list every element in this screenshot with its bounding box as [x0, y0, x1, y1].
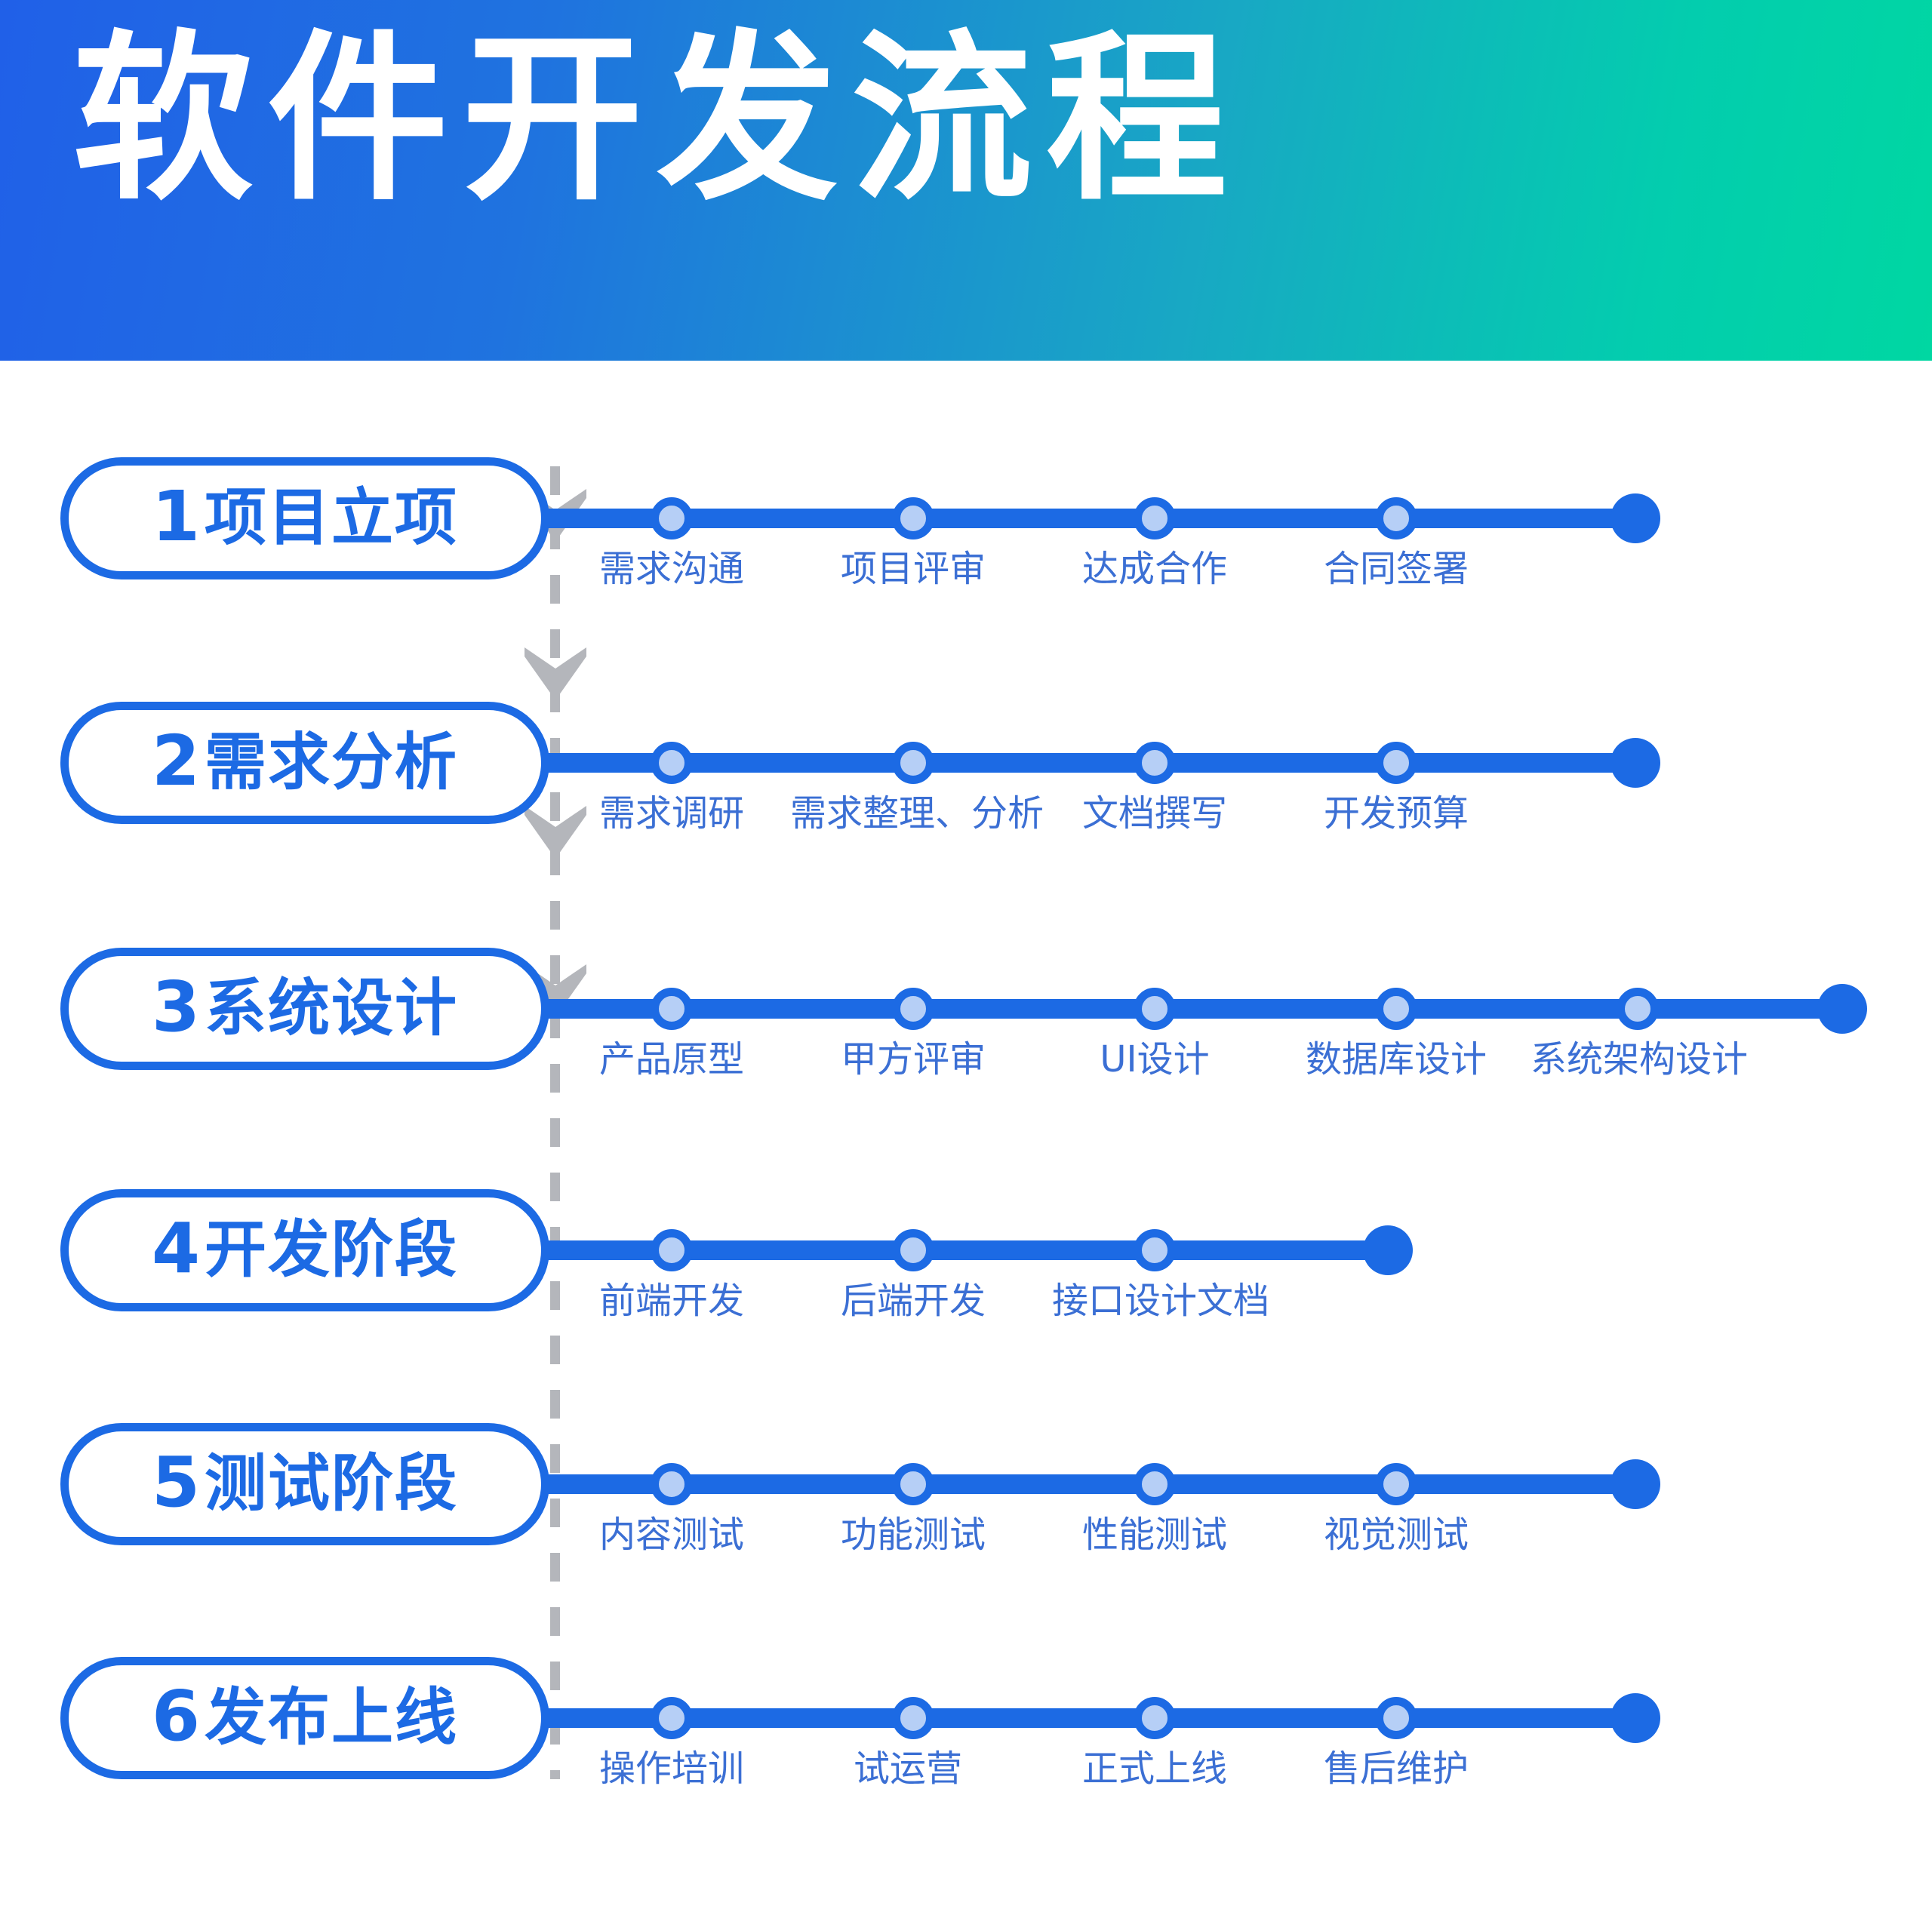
milestone-label-5-2: 功能测试 — [841, 1517, 986, 1553]
milestone-dot-1-3[interactable] — [1134, 497, 1176, 539]
step-title-2: 需求分析 — [205, 732, 458, 794]
milestone-label-3-5: 系统架构设计 — [1531, 1041, 1748, 1077]
timeline-end-dot-1 — [1611, 493, 1660, 543]
milestone-dot-5-2[interactable] — [892, 1463, 934, 1505]
milestone-dot-4-3[interactable] — [1134, 1229, 1176, 1271]
timeline-track-6 — [528, 1708, 1636, 1728]
milestone-dot-3-1[interactable] — [651, 988, 693, 1030]
milestone-dot-6-2[interactable] — [892, 1697, 934, 1739]
page-title: 软件开发流程 — [72, 29, 1241, 210]
step-number-2: 2 — [152, 727, 200, 796]
step-row-6: 6 发布上线 操作培训 试运营 正式上线 售后维护 — [0, 1657, 1932, 1815]
milestone-dot-4-1[interactable] — [651, 1229, 693, 1271]
milestone-dot-2-3[interactable] — [1134, 742, 1176, 784]
milestone-label-6-2: 试运营 — [854, 1751, 962, 1787]
timeline-track-5 — [528, 1474, 1636, 1494]
milestone-label-4-1: 前端开发 — [599, 1283, 744, 1319]
timeline-end-dot-2 — [1611, 738, 1660, 788]
milestone-label-3-2: 甲方评审 — [841, 1041, 986, 1077]
step-number-6: 6 — [152, 1682, 200, 1751]
step-row-3: 3 系统设计 产品原型 甲方评审 UI设计 数据库设计 系统架构设计 — [0, 948, 1932, 1106]
down-arrow-icon-2 — [523, 646, 588, 702]
milestone-dot-3-2[interactable] — [892, 988, 934, 1030]
timeline-end-dot-4 — [1363, 1225, 1413, 1275]
milestone-label-5-3: 性能测试 — [1082, 1517, 1227, 1553]
step-pill-5[interactable]: 5 测试阶段 — [60, 1423, 549, 1545]
step-row-1: 1 项目立项 需求沟通 项目评审 达成合作 合同签署 — [0, 457, 1932, 616]
step-row-5: 5 测试阶段 内容测试 功能测试 性能测试 视觉测试 — [0, 1423, 1932, 1582]
milestone-dot-6-1[interactable] — [651, 1697, 693, 1739]
timeline-end-dot-3 — [1817, 984, 1867, 1034]
milestone-label-4-3: 接口设计文档 — [1052, 1283, 1269, 1319]
milestone-dot-6-4[interactable] — [1375, 1697, 1417, 1739]
step-number-1: 1 — [152, 482, 200, 552]
milestone-label-2-3: 文档撰写 — [1082, 795, 1227, 832]
milestone-dot-5-1[interactable] — [651, 1463, 693, 1505]
step-title-1: 项目立项 — [205, 487, 458, 549]
step-row-2: 2 需求分析 需求调研 需求整理、分析 文档撰写 开发预算 — [0, 702, 1932, 860]
timeline-end-dot-5 — [1611, 1459, 1660, 1509]
step-pill-6[interactable]: 6 发布上线 — [60, 1657, 549, 1779]
step-pill-3[interactable]: 3 系统设计 — [60, 948, 549, 1070]
step-pill-4[interactable]: 4 开发阶段 — [60, 1189, 549, 1311]
step-title-5: 测试阶段 — [205, 1453, 458, 1515]
milestone-dot-2-2[interactable] — [892, 742, 934, 784]
milestone-dot-2-4[interactable] — [1375, 742, 1417, 784]
step-row-4: 4 开发阶段 前端开发 后端开发 接口设计文档 — [0, 1189, 1932, 1348]
milestone-label-6-1: 操作培训 — [599, 1751, 744, 1787]
milestone-label-3-4: 数据库设计 — [1306, 1041, 1487, 1077]
milestone-label-4-2: 后端开发 — [841, 1283, 986, 1319]
milestone-dot-3-5[interactable] — [1617, 988, 1659, 1030]
header-banner: 软件开发流程 — [0, 0, 1932, 361]
milestone-label-1-2: 项目评审 — [841, 551, 986, 587]
milestone-label-1-1: 需求沟通 — [599, 551, 744, 587]
timeline-track-2 — [528, 753, 1636, 773]
milestone-dot-3-3[interactable] — [1134, 988, 1176, 1030]
milestone-dot-6-3[interactable] — [1134, 1697, 1176, 1739]
milestone-label-2-1: 需求调研 — [599, 795, 744, 832]
milestone-label-2-4: 开发预算 — [1324, 795, 1469, 832]
milestone-label-6-3: 正式上线 — [1082, 1751, 1227, 1787]
milestone-label-5-1: 内容测试 — [599, 1517, 744, 1553]
milestone-label-1-4: 合同签署 — [1324, 551, 1469, 587]
step-title-3: 系统设计 — [205, 978, 458, 1040]
milestone-label-6-4: 售后维护 — [1324, 1751, 1469, 1787]
step-number-3: 3 — [152, 973, 200, 1042]
timeline-track-1 — [528, 509, 1636, 528]
step-title-6: 发布上线 — [205, 1687, 458, 1749]
timeline-end-dot-6 — [1611, 1693, 1660, 1743]
milestone-dot-2-1[interactable] — [651, 742, 693, 784]
milestone-dot-5-4[interactable] — [1375, 1463, 1417, 1505]
milestone-label-3-1: 产品原型 — [599, 1041, 744, 1077]
step-number-4: 4 — [152, 1214, 200, 1283]
milestone-label-3-3: UI设计 — [1100, 1041, 1209, 1077]
milestone-dot-4-2[interactable] — [892, 1229, 934, 1271]
step-pill-1[interactable]: 1 项目立项 — [60, 457, 549, 579]
milestone-label-2-2: 需求整理、分析 — [790, 795, 1044, 832]
step-pill-2[interactable]: 2 需求分析 — [60, 702, 549, 824]
milestone-dot-1-1[interactable] — [651, 497, 693, 539]
step-title-4: 开发阶段 — [205, 1219, 458, 1281]
milestone-label-5-4: 视觉测试 — [1324, 1517, 1469, 1553]
flow-diagram: 1 项目立项 需求沟通 项目评审 达成合作 合同签署 2 需求分析 需求调研 需… — [0, 361, 1932, 1909]
milestone-dot-1-4[interactable] — [1375, 497, 1417, 539]
milestone-dot-5-3[interactable] — [1134, 1463, 1176, 1505]
milestone-dot-1-2[interactable] — [892, 497, 934, 539]
milestone-label-1-3: 达成合作 — [1082, 551, 1227, 587]
step-number-5: 5 — [152, 1448, 200, 1517]
milestone-dot-3-4[interactable] — [1375, 988, 1417, 1030]
